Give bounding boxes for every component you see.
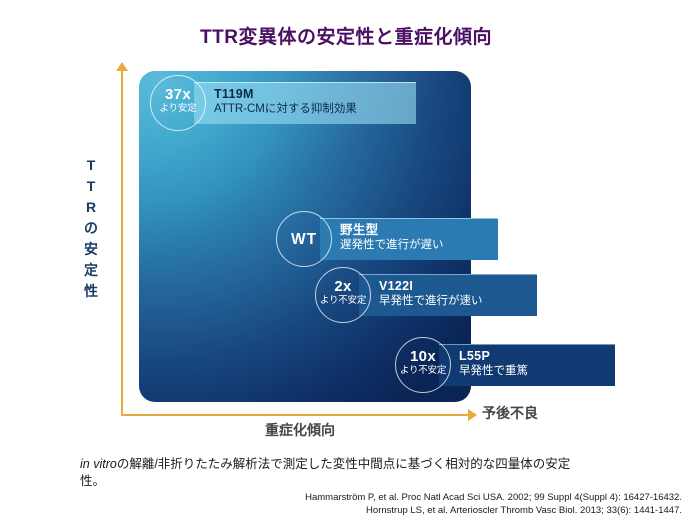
mutation-desc-l55p: 早発性で重篤: [459, 364, 605, 379]
mutation-badge-l55p: 10x より不安定: [395, 337, 451, 393]
citation-list: Hammarström P, et al. Proc Natl Acad Sci…: [305, 491, 682, 517]
y-axis-char-6: 性: [78, 281, 104, 302]
page-title: TTR変異体の安定性と重症化傾向: [0, 22, 692, 49]
y-axis-char-5: 定: [78, 260, 104, 281]
mutation-desc-t119m: ATTR-CMに対する抑制効果: [214, 102, 406, 117]
mutation-multiplier-t119m: 37x: [151, 86, 205, 103]
mutation-multiplier-wt: WT: [277, 231, 331, 248]
y-axis-char-4: 安: [78, 239, 104, 260]
x-axis-line: [121, 414, 470, 416]
mutation-code-wt: 野生型: [340, 223, 488, 238]
mutation-bar-t119m: T119M ATTR-CMに対する抑制効果: [194, 82, 416, 124]
x-axis-arrow-icon: [468, 409, 477, 421]
mutation-desc-v122i: 早発性で進行が速い: [379, 294, 527, 309]
mutation-note-t119m: より安定: [151, 103, 205, 114]
y-axis-char-0: T: [78, 155, 104, 176]
y-axis-char-2: R: [78, 197, 104, 218]
mutation-badge-t119m: 37x より安定: [150, 75, 206, 131]
y-axis-char-3: の: [78, 218, 104, 239]
mutation-badge-wt: WT: [276, 211, 332, 267]
mutation-multiplier-l55p: 10x: [396, 348, 450, 365]
footnote-rest: の解離/非折りたたみ解析法で測定した変性中間点に基づく相対的な四量体の安定性。: [80, 457, 570, 488]
mutation-bar-l55p: L55P 早発性で重篤: [439, 344, 615, 386]
footnote-italic: in vitro: [80, 457, 117, 471]
x-axis-end-label: 予後不良: [482, 403, 538, 423]
mutation-bar-wt: 野生型 遅発性で進行が遅い: [320, 218, 498, 260]
mutation-badge-v122i: 2x より不安定: [315, 267, 371, 323]
footnote: in vitroの解離/非折りたたみ解析法で測定した変性中間点に基づく相対的な四…: [80, 456, 578, 490]
mutation-code-t119m: T119M: [214, 87, 406, 102]
y-axis-label: T T R の 安 定 性: [78, 155, 104, 302]
slide-root: TTR変異体の安定性と重症化傾向 T T R の 安 定 性 T119M ATT…: [0, 0, 692, 529]
citation-item: Hornstrup LS, et al. Arterioscler Thromb…: [305, 504, 682, 517]
citation-item: Hammarström P, et al. Proc Natl Acad Sci…: [305, 491, 682, 504]
y-axis-line: [121, 70, 123, 415]
mutation-code-v122i: V122I: [379, 279, 527, 294]
mutation-multiplier-v122i: 2x: [316, 278, 370, 295]
mutation-note-l55p: より不安定: [396, 365, 450, 376]
mutation-note-v122i: より不安定: [316, 295, 370, 306]
mutation-bar-v122i: V122I 早発性で進行が速い: [359, 274, 537, 316]
mutation-code-l55p: L55P: [459, 349, 605, 364]
y-axis-char-1: T: [78, 176, 104, 197]
x-axis-label: 重症化傾向: [180, 420, 420, 440]
mutation-desc-wt: 遅発性で進行が遅い: [340, 238, 488, 253]
